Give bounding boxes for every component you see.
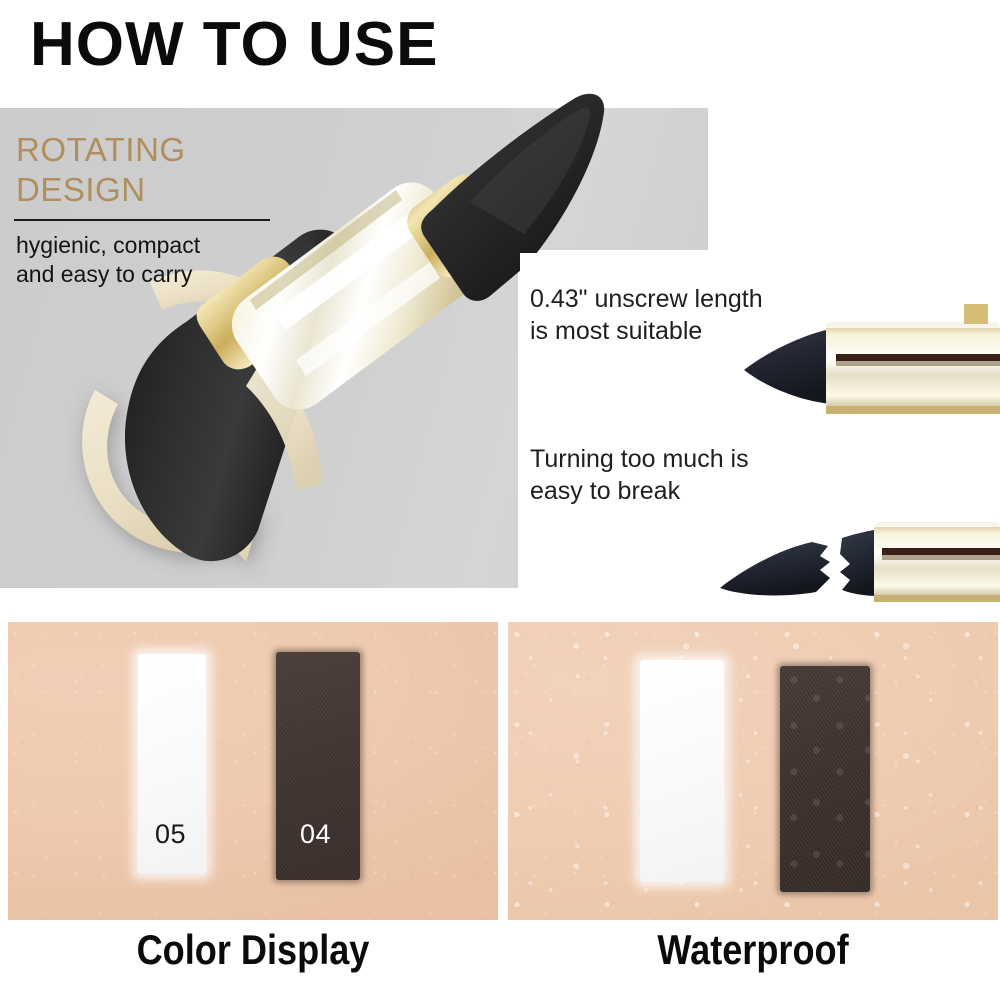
caption-color-display: Color Display (42, 929, 463, 971)
swatch-label-04: 04 (300, 821, 331, 848)
swatch-label-05: 05 (155, 821, 186, 848)
feature-subtitle: hygienic, compact and easy to carry (16, 231, 200, 289)
feature-title: ROTATING DESIGN (16, 130, 186, 210)
infographic-page: HOW TO USE (0, 0, 1000, 1000)
swatch-panel-waterproof (508, 622, 998, 920)
caption-waterproof: Waterproof (542, 929, 963, 971)
page-title: HOW TO USE (30, 14, 438, 76)
title-divider (14, 219, 270, 221)
hero-panel-lower (0, 250, 518, 588)
callout-turning-warning: Turning too much is easy to break (530, 443, 749, 507)
skin-texture (8, 622, 498, 920)
water-droplets (508, 622, 998, 920)
swatch-dark-wet (780, 666, 870, 892)
swatch-panel-color-display: 05 04 (8, 622, 498, 920)
swatch-light-wet (640, 660, 724, 882)
callout-unscrew-length: 0.43" unscrew length is most suitable (530, 283, 763, 347)
